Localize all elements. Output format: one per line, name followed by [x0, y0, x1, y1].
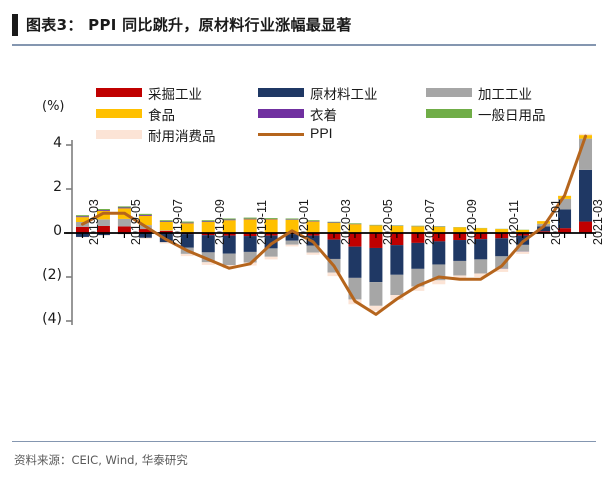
bar-durables-17 — [432, 280, 445, 284]
bar-processing-18 — [453, 261, 466, 276]
x-tick-label-7: 2020-05 — [381, 199, 395, 245]
x-tick-label-6: 2020-03 — [339, 199, 353, 245]
bar-raw_materials-14 — [369, 248, 382, 282]
bar-processing-7 — [223, 254, 236, 265]
figure-root: 图表3： PPI 同比跳升，原材料行业涨幅最显著 采掘工业原材料工业加工工业食品… — [0, 0, 608, 489]
bar-durables-11 — [307, 253, 320, 255]
bar-processing-14 — [369, 282, 382, 306]
x-tick-label-0: 2019-03 — [87, 199, 101, 245]
chart-plot-area: 420(2)(4)(%)2019-032019-052019-072019-09… — [0, 0, 608, 489]
x-tick-label-10: 2020-11 — [507, 200, 521, 245]
x-tick-label-9: 2020-09 — [465, 199, 479, 245]
bar-durables-21 — [516, 252, 529, 254]
footer-divider — [12, 441, 596, 442]
bar-processing-19 — [474, 259, 487, 273]
bar-processing-15 — [390, 275, 403, 295]
x-tick-label-12: 2021-03 — [591, 199, 605, 245]
x-tick-label-8: 2020-07 — [423, 199, 437, 245]
x-tick-label-2: 2019-07 — [171, 199, 185, 245]
bar-durables-9 — [265, 257, 278, 260]
source-note: 资料来源：CEIC, Wind, 华泰研究 — [14, 452, 188, 468]
x-tick-label-3: 2019-09 — [213, 199, 227, 245]
x-tick-label-1: 2019-05 — [129, 199, 143, 245]
x-tick-label-11: 2021-01 — [549, 199, 563, 245]
bar-raw_materials-16 — [411, 243, 424, 269]
y-axis-unit-label: (%) — [42, 99, 65, 114]
x-tick-label-5: 2020-01 — [297, 199, 311, 245]
bar-durables-5 — [181, 254, 194, 256]
bar-processing-24 — [579, 139, 592, 170]
bar-raw_materials-13 — [348, 247, 361, 278]
x-tick-label-4: 2019-11 — [255, 200, 269, 245]
bar-raw_materials-15 — [390, 245, 403, 275]
